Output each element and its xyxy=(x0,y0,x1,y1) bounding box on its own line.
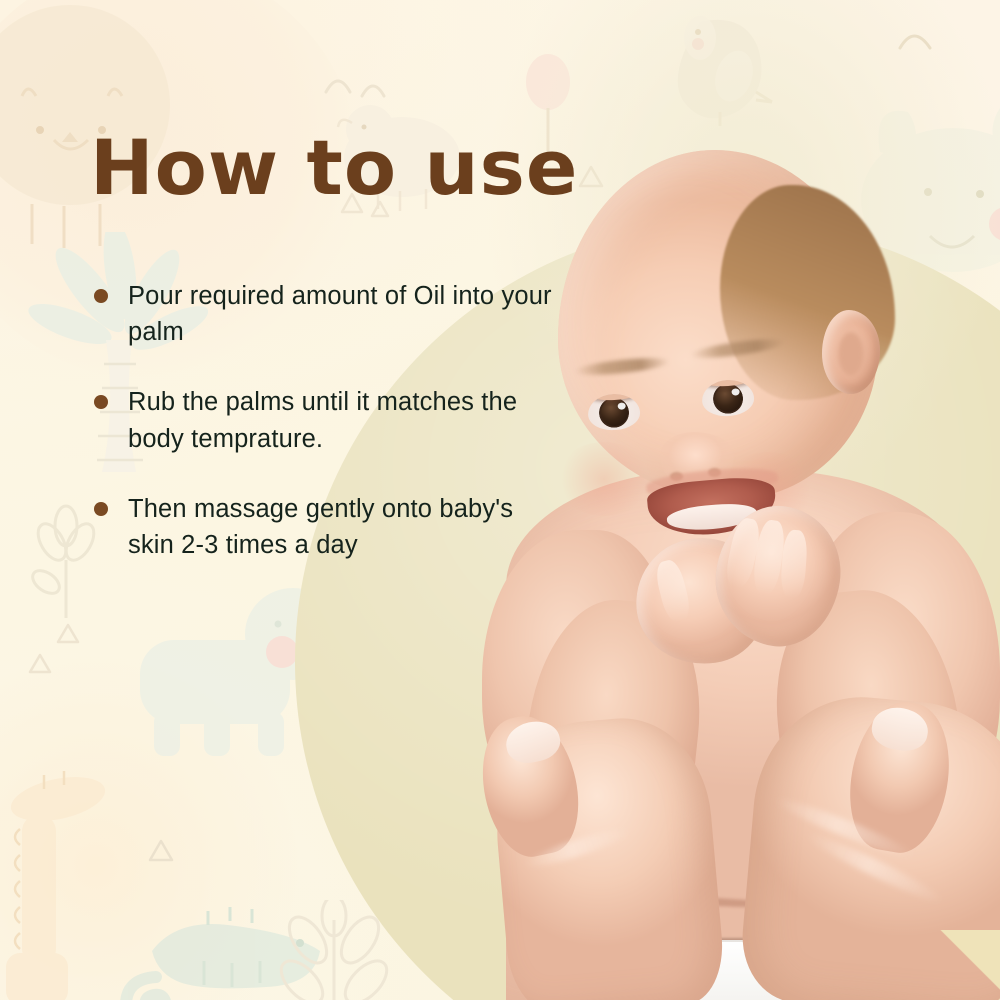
bullet-dot-icon xyxy=(94,289,108,303)
background-wash-bottom-left xyxy=(0,650,300,1000)
step-text: Pour required amount of Oil into your pa… xyxy=(128,282,552,346)
bullet-dot-icon xyxy=(94,395,108,409)
step-text: Rub the palms until it matches the body … xyxy=(128,388,517,452)
poster-canvas: How to use Pour required amount of Oil i… xyxy=(0,0,1000,1000)
baby-hands xyxy=(632,500,832,700)
baby-ear-inner xyxy=(838,332,864,376)
list-item: Pour required amount of Oil into your pa… xyxy=(88,278,558,350)
page-title: How to use xyxy=(90,130,578,206)
list-item: Then massage gently onto baby's skin 2-3… xyxy=(88,491,558,563)
pupil xyxy=(714,384,743,413)
list-item: Rub the palms until it matches the body … xyxy=(88,384,558,456)
corner-accent xyxy=(930,930,1000,1000)
step-text: Then massage gently onto baby's skin 2-3… xyxy=(128,495,513,559)
how-to-use-steps: Pour required amount of Oil into your pa… xyxy=(88,278,558,563)
bullet-dot-icon xyxy=(94,502,108,516)
